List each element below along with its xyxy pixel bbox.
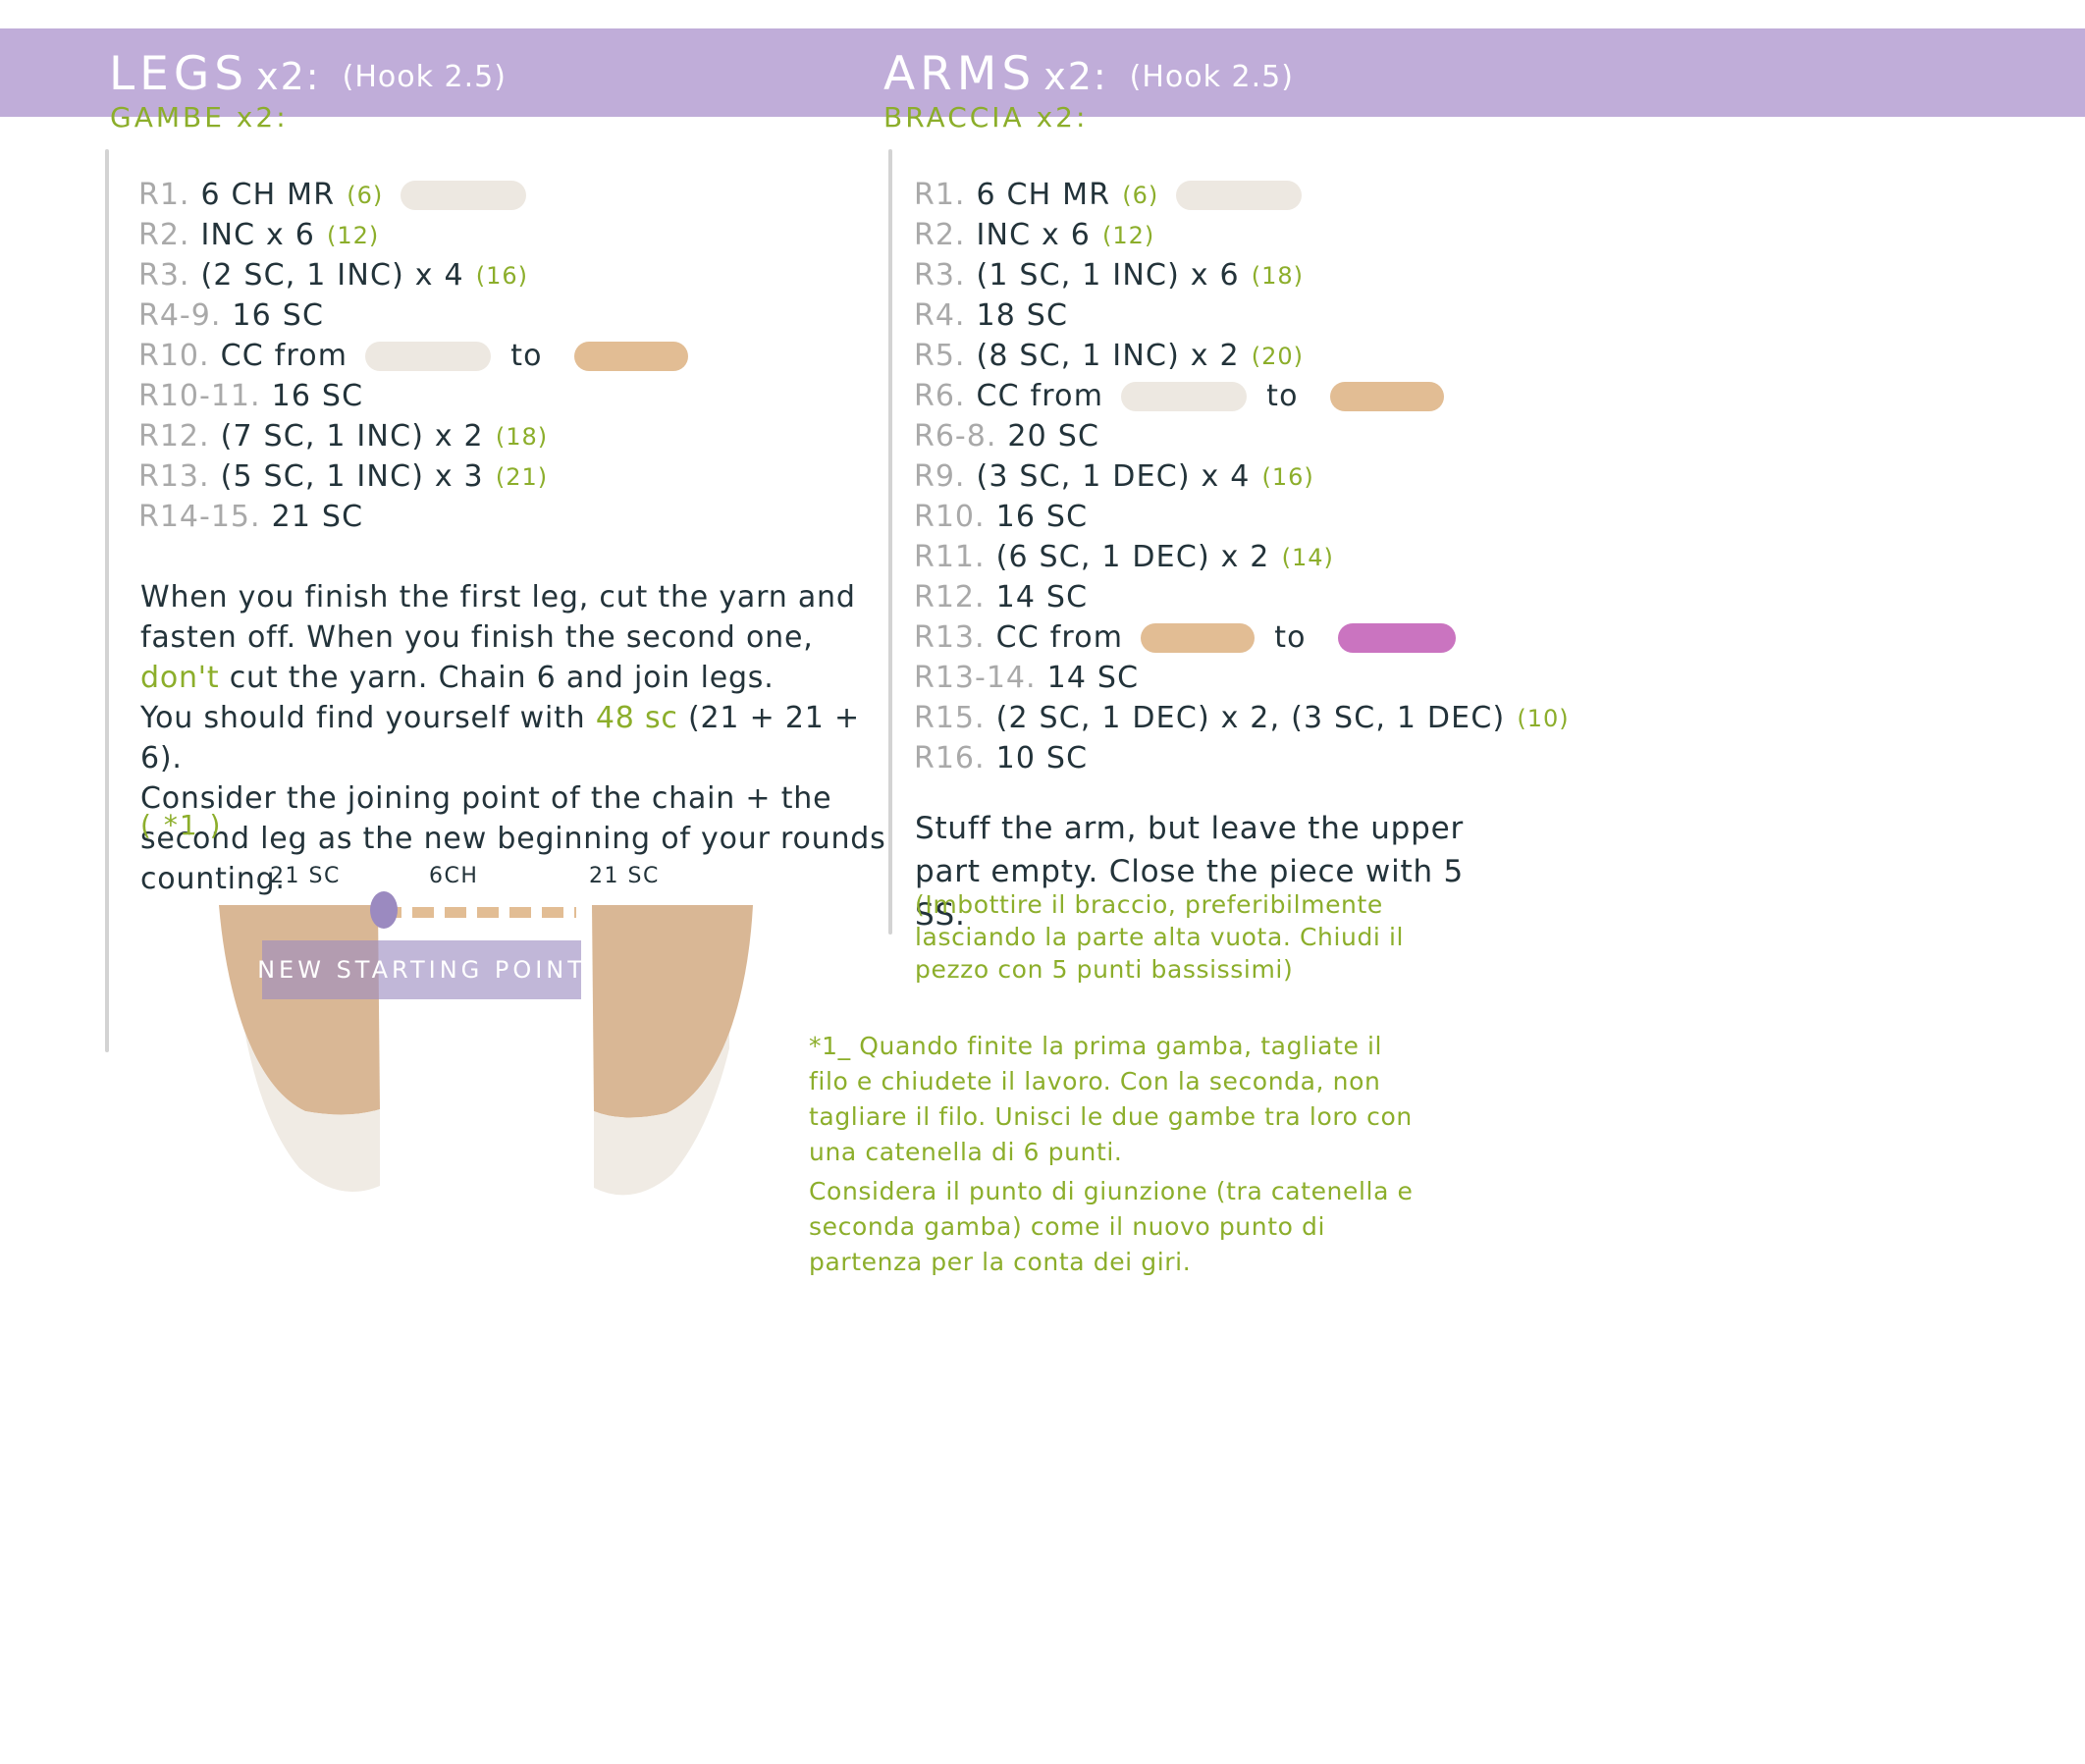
- round-instruction: 6 CH MR: [200, 178, 335, 212]
- round-stitch-count: (10): [1517, 705, 1569, 732]
- round-row: R9.(3 SC, 1 DEC) x 4(16): [914, 456, 1570, 497]
- round-stitch-count: (14): [1282, 544, 1334, 571]
- yarn-color-swatch-tan: [1330, 382, 1444, 411]
- round-number: R15.: [914, 701, 986, 735]
- legs-footnote-marker: ( *1 ): [140, 809, 222, 841]
- round-instruction: CC from: [976, 379, 1103, 413]
- diagram-label-left: 21 SC: [270, 864, 341, 888]
- pattern-page: LEGSx2:(Hook 2.5) GAMBE x2: R1.6 CH MR(6…: [0, 0, 2085, 1764]
- footnote-paragraph: *1_ Quando finite la prima gamba, taglia…: [809, 1029, 1427, 1170]
- round-instruction: INC x 6: [976, 218, 1091, 252]
- round-instruction: 16 SC: [996, 500, 1089, 534]
- left-leg-upper: [219, 905, 380, 1115]
- round-row: R13-14.14 SC: [914, 658, 1570, 698]
- yarn-color-swatch-pink: [1338, 623, 1456, 653]
- round-number: R4-9.: [138, 298, 221, 333]
- arms-subtitle: BRACCIA x2:: [883, 101, 1088, 134]
- round-row: R10.CC fromto: [138, 336, 688, 376]
- round-number: R14-15.: [138, 500, 261, 534]
- legs-para-48sc: 48 sc: [596, 701, 678, 735]
- round-stitch-count: (6): [347, 182, 383, 209]
- round-stitch-count: (18): [496, 423, 548, 451]
- arms-vertical-rule: [888, 149, 892, 935]
- round-number: R6.: [914, 379, 965, 413]
- round-number: R9.: [914, 459, 965, 494]
- round-number: R4.: [914, 298, 965, 333]
- arms-title: ARMS: [883, 47, 1036, 101]
- round-instruction: (8 SC, 1 INC) x 2: [976, 339, 1239, 373]
- new-starting-point-label: NEW STARTING POINT: [257, 956, 586, 984]
- legs-title: LEGS: [109, 47, 248, 101]
- round-number: R2.: [138, 218, 189, 252]
- chain-dashes: [380, 907, 576, 918]
- round-number: R12.: [138, 419, 210, 454]
- round-stitch-count: (16): [1262, 463, 1314, 491]
- round-stitch-count: (20): [1252, 343, 1304, 370]
- round-number: R10.: [914, 500, 986, 534]
- round-number: R1.: [914, 178, 965, 212]
- round-row: R1.6 CH MR(6): [138, 175, 688, 215]
- round-row: R3.(1 SC, 1 INC) x 6(18): [914, 255, 1570, 295]
- round-stitch-count: (12): [327, 222, 379, 249]
- round-row: R2.INC x 6(12): [914, 215, 1570, 255]
- yarn-color-swatch-tan: [1141, 623, 1255, 653]
- arms-instructions-italian: (Imbottire il braccio, preferibilmente l…: [915, 888, 1450, 986]
- round-number: R13-14.: [914, 661, 1037, 695]
- round-number: R16.: [914, 741, 986, 775]
- round-number: R13.: [138, 459, 210, 494]
- round-number: R6-8.: [914, 419, 996, 454]
- round-stitch-count: (6): [1122, 182, 1158, 209]
- round-row: R13.CC fromto: [914, 617, 1570, 658]
- round-row: R3.(2 SC, 1 INC) x 4(16): [138, 255, 688, 295]
- legs-heading: LEGSx2:(Hook 2.5): [109, 47, 507, 101]
- round-row: R1.6 CH MR(6): [914, 175, 1570, 215]
- legs-para-dont: don't: [140, 661, 219, 695]
- round-instruction: 14 SC: [996, 580, 1089, 615]
- round-instruction: (6 SC, 1 DEC) x 2: [996, 540, 1270, 574]
- round-row: R16.10 SC: [914, 738, 1570, 778]
- round-row: R6-8.20 SC: [914, 416, 1570, 456]
- legs-hook: (Hook 2.5): [343, 60, 507, 94]
- round-row: R5.(8 SC, 1 INC) x 2(20): [914, 336, 1570, 376]
- diagram-label-mid: 6CH: [429, 864, 478, 888]
- color-change-to-word: to: [1266, 379, 1299, 413]
- round-instruction: CC from: [996, 620, 1124, 655]
- round-row: R4-9.16 SC: [138, 295, 688, 336]
- round-number: R5.: [914, 339, 965, 373]
- legs-para-part3: You should find yourself with: [140, 701, 596, 735]
- round-instruction: (3 SC, 1 DEC) x 4: [976, 459, 1250, 494]
- round-row: R10-11.16 SC: [138, 376, 688, 416]
- round-row: R6.CC fromto: [914, 376, 1570, 416]
- round-instruction: (2 SC, 1 INC) x 4: [200, 258, 463, 293]
- round-instruction: 14 SC: [1047, 661, 1140, 695]
- round-instruction: (7 SC, 1 INC) x 2: [221, 419, 484, 454]
- round-instruction: 10 SC: [996, 741, 1089, 775]
- legs-subtitle: GAMBE x2:: [110, 101, 289, 134]
- round-row: R14-15.21 SC: [138, 497, 688, 537]
- right-leg-upper: [592, 905, 753, 1118]
- arms-rounds-list: R1.6 CH MR(6)R2.INC x 6(12)R3.(1 SC, 1 I…: [914, 175, 1570, 778]
- round-stitch-count: (16): [476, 262, 528, 290]
- yarn-color-swatch-cream: [1121, 382, 1247, 411]
- round-row: R15.(2 SC, 1 DEC) x 2, (3 SC, 1 DEC)(10): [914, 698, 1570, 738]
- round-row: R13.(5 SC, 1 INC) x 3(21): [138, 456, 688, 497]
- round-row: R10.16 SC: [914, 497, 1570, 537]
- color-change-to-word: to: [510, 339, 543, 373]
- round-instruction: 20 SC: [1007, 419, 1099, 454]
- round-instruction: (1 SC, 1 INC) x 6: [976, 258, 1239, 293]
- round-instruction: 18 SC: [976, 298, 1068, 333]
- legs-para-part1: When you finish the first leg, cut the y…: [140, 580, 856, 655]
- arms-multiplier: x2:: [1043, 55, 1107, 98]
- round-instruction: INC x 6: [200, 218, 315, 252]
- footnote-paragraph: Considera il punto di giunzione (tra cat…: [809, 1174, 1427, 1280]
- round-row: R2.INC x 6(12): [138, 215, 688, 255]
- round-instruction: 16 SC: [272, 379, 364, 413]
- legs-vertical-rule: [105, 149, 109, 1052]
- round-row: R12.(7 SC, 1 INC) x 2(18): [138, 416, 688, 456]
- round-instruction: (5 SC, 1 INC) x 3: [221, 459, 484, 494]
- round-number: R12.: [914, 580, 986, 615]
- round-number: R2.: [914, 218, 965, 252]
- round-instruction: 6 CH MR: [976, 178, 1110, 212]
- yarn-color-swatch-cream: [1176, 181, 1302, 210]
- round-instruction: CC from: [221, 339, 348, 373]
- round-number: R10-11.: [138, 379, 261, 413]
- legs-multiplier: x2:: [256, 55, 320, 98]
- round-instruction: 21 SC: [272, 500, 364, 534]
- arms-hook: (Hook 2.5): [1130, 60, 1294, 94]
- yarn-color-swatch-cream: [401, 181, 526, 210]
- round-number: R3.: [138, 258, 189, 293]
- color-change-to-word: to: [1274, 620, 1307, 655]
- round-instruction: (2 SC, 1 DEC) x 2, (3 SC, 1 DEC): [996, 701, 1506, 735]
- legs-para-part2: cut the yarn. Chain 6 and join legs.: [219, 661, 774, 695]
- new-starting-point-banner: NEW STARTING POINT: [262, 940, 581, 999]
- legs-instructions-paragraph: When you finish the first leg, cut the y…: [140, 577, 886, 899]
- yarn-color-swatch-tan: [574, 342, 688, 371]
- legs-rounds-list: R1.6 CH MR(6)R2.INC x 6(12)R3.(2 SC, 1 I…: [138, 175, 688, 537]
- diagram-label-right: 21 SC: [589, 864, 660, 888]
- round-number: R1.: [138, 178, 189, 212]
- round-number: R3.: [914, 258, 965, 293]
- arms-heading: ARMSx2:(Hook 2.5): [883, 47, 1294, 101]
- round-row: R12.14 SC: [914, 577, 1570, 617]
- round-number: R13.: [914, 620, 986, 655]
- joining-point-dot: [370, 891, 398, 929]
- legs-join-diagram: 21 SC 6CH 21 SC NEW STARTING POINT: [211, 864, 761, 1256]
- round-row: R11.(6 SC, 1 DEC) x 2(14): [914, 537, 1570, 577]
- round-instruction: 16 SC: [232, 298, 324, 333]
- round-stitch-count: (21): [496, 463, 548, 491]
- round-number: R10.: [138, 339, 210, 373]
- round-stitch-count: (18): [1252, 262, 1304, 290]
- round-row: R4.18 SC: [914, 295, 1570, 336]
- yarn-color-swatch-cream: [365, 342, 491, 371]
- round-number: R11.: [914, 540, 986, 574]
- round-stitch-count: (12): [1102, 222, 1154, 249]
- legs-footnote-italian: *1_ Quando finite la prima gamba, taglia…: [809, 1029, 1427, 1280]
